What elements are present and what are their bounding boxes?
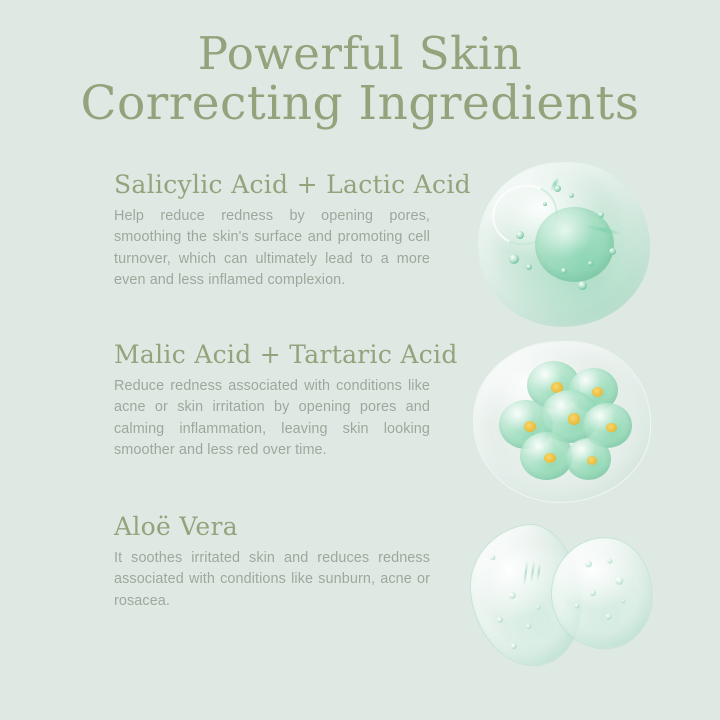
aloe-gel-image bbox=[472, 520, 652, 670]
ingredient-section-salicylic-lactic: Salicylic Acid + Lactic Acid Help reduce… bbox=[0, 170, 720, 340]
gel-bubble bbox=[598, 212, 604, 218]
gel-bubble bbox=[609, 248, 616, 255]
aloe-gel-striation bbox=[530, 561, 535, 583]
aloe-gel-bubble bbox=[526, 624, 532, 630]
ingredient-image-column bbox=[460, 170, 720, 340]
ingredient-heading: Salicylic Acid + Lactic Acid bbox=[114, 170, 430, 199]
aloe-gel-bubble bbox=[508, 592, 516, 600]
page-title: Powerful Skin Correcting Ingredients bbox=[0, 30, 720, 129]
gel-bubble bbox=[561, 268, 567, 274]
ingredient-text-column: Aloë Vera It soothes irritated skin and … bbox=[114, 512, 430, 612]
ingredient-text-column: Salicylic Acid + Lactic Acid Help reduce… bbox=[114, 170, 430, 291]
aloe-gel-bubble bbox=[496, 616, 503, 623]
ingredient-heading: Malic Acid + Tartaric Acid bbox=[114, 340, 430, 369]
ingredient-image-column bbox=[460, 512, 720, 682]
ingredient-description: Reduce redness associated with condition… bbox=[114, 376, 430, 461]
aloe-gel-bubble bbox=[621, 599, 625, 603]
page-title-line-1: Powerful Skin bbox=[0, 30, 720, 79]
infographic-page: { "page": { "background_color": "#dfe9e4… bbox=[0, 0, 720, 720]
aloe-gel-bubble bbox=[490, 555, 496, 561]
gel-blob-inner-sphere bbox=[535, 207, 614, 283]
page-title-line-2: Correcting Ingredients bbox=[0, 79, 720, 130]
aloe-gel-bubble bbox=[605, 613, 612, 620]
aloe-gel-bubble bbox=[585, 560, 593, 568]
aloe-gel-bubble bbox=[590, 590, 597, 597]
ingredient-text-column: Malic Acid + Tartaric Acid Reduce rednes… bbox=[114, 340, 430, 461]
ingredient-section-aloe-vera: Aloë Vera It soothes irritated skin and … bbox=[0, 512, 720, 682]
aloe-gel-bubble bbox=[607, 558, 612, 563]
aloe-gel-bubble bbox=[615, 577, 624, 586]
aloe-gel-bubble bbox=[574, 603, 579, 608]
aloe-gel-bubble bbox=[536, 605, 541, 610]
ingredient-heading: Aloë Vera bbox=[114, 512, 430, 541]
ingredient-image-column bbox=[460, 340, 720, 510]
capsule-cluster-image bbox=[474, 342, 650, 502]
gel-blob-image bbox=[478, 162, 650, 327]
gel-bubble bbox=[578, 281, 587, 290]
ingredient-description: Help reduce redness by opening pores, sm… bbox=[114, 206, 430, 291]
green-capsule bbox=[520, 432, 573, 480]
aloe-gel-striation bbox=[537, 563, 541, 581]
ingredient-description: It soothes irritated skin and reduces re… bbox=[114, 548, 430, 612]
ingredient-section-malic-tartaric: Malic Acid + Tartaric Acid Reduce rednes… bbox=[0, 340, 720, 510]
aloe-gel-striation bbox=[523, 559, 529, 585]
aloe-gel-bubble bbox=[511, 643, 518, 650]
green-capsule bbox=[566, 438, 612, 480]
